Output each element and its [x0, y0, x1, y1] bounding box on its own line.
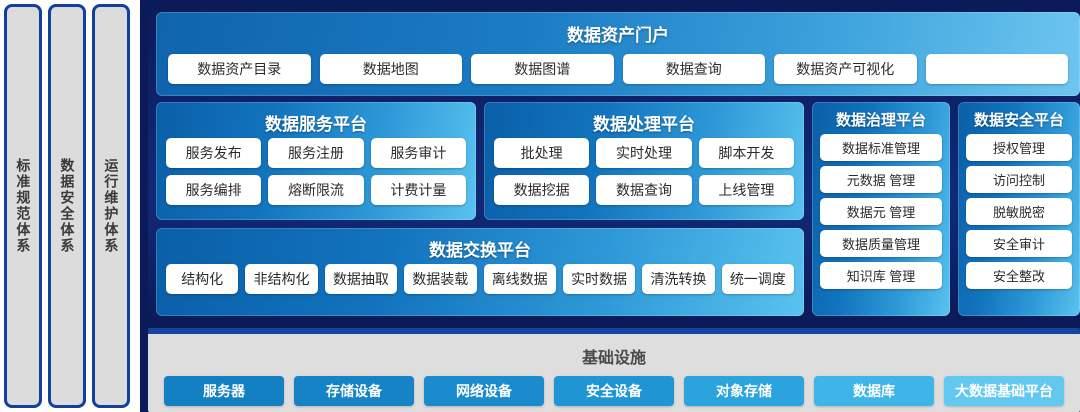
processing-item-realtime[interactable]: 实时处理 — [596, 138, 691, 168]
panel-data-processing-platform-title: 数据处理平台 — [484, 110, 804, 135]
panel-data-service-platform-title: 数据服务平台 — [156, 110, 476, 135]
portal-chip-group: 数据资产目录 数据地图 数据图谱 数据查询 数据资产可视化 — [168, 54, 1068, 84]
exchange-item-realtime-data[interactable]: 实时数据 — [563, 264, 635, 294]
exchange-item-offline-data[interactable]: 离线数据 — [484, 264, 556, 294]
processing-chip-group: 批处理 实时处理 脚本开发 数据挖据 数据查询 上线管理 — [494, 138, 794, 205]
exchange-item-structured[interactable]: 结构化 — [166, 264, 238, 294]
security-item-masking[interactable]: 脱敏脱密 — [966, 198, 1072, 225]
panel-data-asset-portal: 数据资产门户 数据资产目录 数据地图 数据图谱 数据查询 数据资产可视化 — [156, 12, 1080, 96]
pillar-operations-label: 运行维护体系 — [104, 158, 119, 254]
infra-item-security-dev[interactable]: 安全设备 — [554, 376, 674, 406]
portal-item-query[interactable]: 数据查询 — [623, 54, 766, 84]
architecture-diagram: 标准规范体系 数据安全体系 运行维护体系 数据资产门户 数据资产目录 数据地图 … — [0, 0, 1080, 412]
infra-item-bigdata-platform[interactable]: 大数据基础平台 — [944, 376, 1064, 406]
panel-infrastructure-title: 基础设施 — [148, 344, 1080, 368]
portal-item-visualization[interactable]: 数据资产可视化 — [774, 54, 917, 84]
governance-item-data-quality[interactable]: 数据质量管理 — [820, 230, 942, 257]
service-item-billing[interactable]: 计费计量 — [371, 175, 466, 205]
panel-data-asset-portal-title: 数据资产门户 — [156, 21, 1080, 46]
pillar-data-security: 数据安全体系 — [48, 4, 86, 408]
exchange-item-clean-transform[interactable]: 清洗转换 — [642, 264, 714, 294]
service-item-register[interactable]: 服务注册 — [268, 138, 363, 168]
security-item-access-control[interactable]: 访问控制 — [966, 166, 1072, 193]
processing-item-mining[interactable]: 数据挖据 — [494, 175, 589, 205]
service-item-orchestration[interactable]: 服务编排 — [166, 175, 261, 205]
infra-item-server[interactable]: 服务器 — [164, 376, 284, 406]
platform-upper-area: 数据资产门户 数据资产目录 数据地图 数据图谱 数据查询 数据资产可视化 数据服… — [148, 6, 1080, 322]
exchange-item-unified-schedule[interactable]: 统一调度 — [722, 264, 794, 294]
panel-data-processing-platform: 数据处理平台 批处理 实时处理 脚本开发 数据挖据 数据查询 上线管理 — [484, 102, 804, 220]
portal-item-graph[interactable]: 数据图谱 — [471, 54, 614, 84]
pillar-standards: 标准规范体系 — [4, 4, 42, 408]
governance-item-metadata[interactable]: 元数据 管理 — [820, 166, 942, 193]
portal-item-map[interactable]: 数据地图 — [320, 54, 463, 84]
panel-data-exchange-platform: 数据交换平台 结构化 非结构化 数据抽取 数据装载 离线数据 实时数据 清洗转换… — [156, 228, 804, 316]
security-item-security-audit[interactable]: 安全审计 — [966, 230, 1072, 257]
infrastructure-chip-group: 服务器 存储设备 网络设备 安全设备 对象存储 数据库 大数据基础平台 — [164, 376, 1064, 406]
service-chip-group: 服务发布 服务注册 服务审计 服务编排 熔断限流 计费计量 — [166, 138, 466, 205]
panel-data-governance-platform: 数据治理平台 数据标准管理 元数据 管理 数据元 管理 数据质量管理 知识库 管… — [812, 102, 950, 316]
exchange-item-load[interactable]: 数据装载 — [404, 264, 476, 294]
panel-infrastructure: 基础设施 服务器 存储设备 网络设备 安全设备 对象存储 数据库 大数据基础平台 — [148, 328, 1080, 412]
pillar-standards-label: 标准规范体系 — [16, 158, 31, 254]
portal-item-empty[interactable] — [926, 54, 1069, 84]
infra-item-database[interactable]: 数据库 — [814, 376, 934, 406]
panel-data-governance-platform-title: 数据治理平台 — [812, 109, 950, 130]
infra-item-network[interactable]: 网络设备 — [424, 376, 544, 406]
pillar-operations: 运行维护体系 — [92, 4, 130, 408]
governance-item-data-standard[interactable]: 数据标准管理 — [820, 134, 942, 161]
governance-item-data-element[interactable]: 数据元 管理 — [820, 198, 942, 225]
service-item-audit[interactable]: 服务审计 — [371, 138, 466, 168]
exchange-item-extract[interactable]: 数据抽取 — [325, 264, 397, 294]
panel-data-security-platform-title: 数据安全平台 — [958, 109, 1080, 130]
security-item-security-rectify[interactable]: 安全整改 — [966, 262, 1072, 289]
panel-data-security-platform: 数据安全平台 授权管理 访问控制 脱敏脱密 安全审计 安全整改 — [958, 102, 1080, 316]
security-chip-group: 授权管理 访问控制 脱敏脱密 安全审计 安全整改 — [966, 134, 1072, 289]
processing-item-batch[interactable]: 批处理 — [494, 138, 589, 168]
infra-item-object-storage[interactable]: 对象存储 — [684, 376, 804, 406]
panel-data-service-platform: 数据服务平台 服务发布 服务注册 服务审计 服务编排 熔断限流 计费计量 — [156, 102, 476, 220]
governance-chip-group: 数据标准管理 元数据 管理 数据元 管理 数据质量管理 知识库 管理 — [820, 134, 942, 289]
exchange-chip-group: 结构化 非结构化 数据抽取 数据装载 离线数据 实时数据 清洗转换 统一调度 — [166, 264, 794, 294]
service-item-publish[interactable]: 服务发布 — [166, 138, 261, 168]
portal-item-catalog[interactable]: 数据资产目录 — [168, 54, 311, 84]
exchange-item-unstructured[interactable]: 非结构化 — [245, 264, 317, 294]
governance-item-knowledge-base[interactable]: 知识库 管理 — [820, 262, 942, 289]
platform-frame: 数据资产门户 数据资产目录 数据地图 数据图谱 数据查询 数据资产可视化 数据服… — [140, 0, 1080, 412]
security-item-authorization[interactable]: 授权管理 — [966, 134, 1072, 161]
service-item-circuit-breaker[interactable]: 熔断限流 — [268, 175, 363, 205]
processing-item-query[interactable]: 数据查询 — [596, 175, 691, 205]
processing-item-release-mgmt[interactable]: 上线管理 — [699, 175, 794, 205]
pillar-data-security-label: 数据安全体系 — [60, 158, 75, 254]
processing-item-script-dev[interactable]: 脚本开发 — [699, 138, 794, 168]
panel-data-exchange-platform-title: 数据交换平台 — [156, 236, 804, 261]
infra-item-storage[interactable]: 存储设备 — [294, 376, 414, 406]
